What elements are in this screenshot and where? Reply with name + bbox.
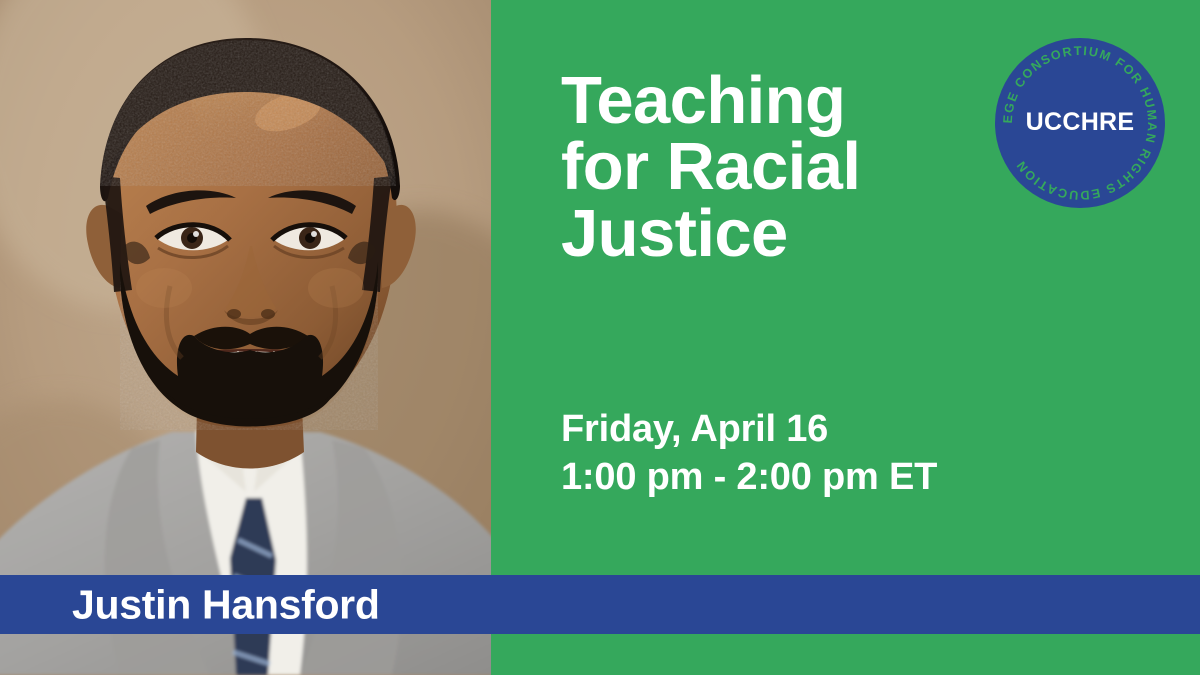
event-promo-poster: Teaching for Racial Justice Friday, Apri… (0, 0, 1200, 675)
event-date: Friday, April 16 (561, 405, 1081, 453)
title-line-3: Justice (561, 201, 981, 267)
event-title: Teaching for Racial Justice (561, 68, 981, 267)
speaker-name: Justin Hansford (72, 581, 380, 628)
title-line-1: Teaching (561, 68, 981, 134)
speaker-name-bar: Justin Hansford (0, 575, 1200, 634)
event-time: 1:00 pm - 2:00 pm ET (561, 453, 1081, 501)
speaker-photo (0, 0, 491, 675)
title-line-2: for Racial (561, 134, 981, 200)
event-datetime: Friday, April 16 1:00 pm - 2:00 pm ET (561, 405, 1081, 502)
ucchre-logo: UNIVERSITY AND COLLEGE CONSORTIUM FOR HU… (993, 36, 1167, 210)
logo-acronym: UCCHRE (1026, 108, 1135, 136)
